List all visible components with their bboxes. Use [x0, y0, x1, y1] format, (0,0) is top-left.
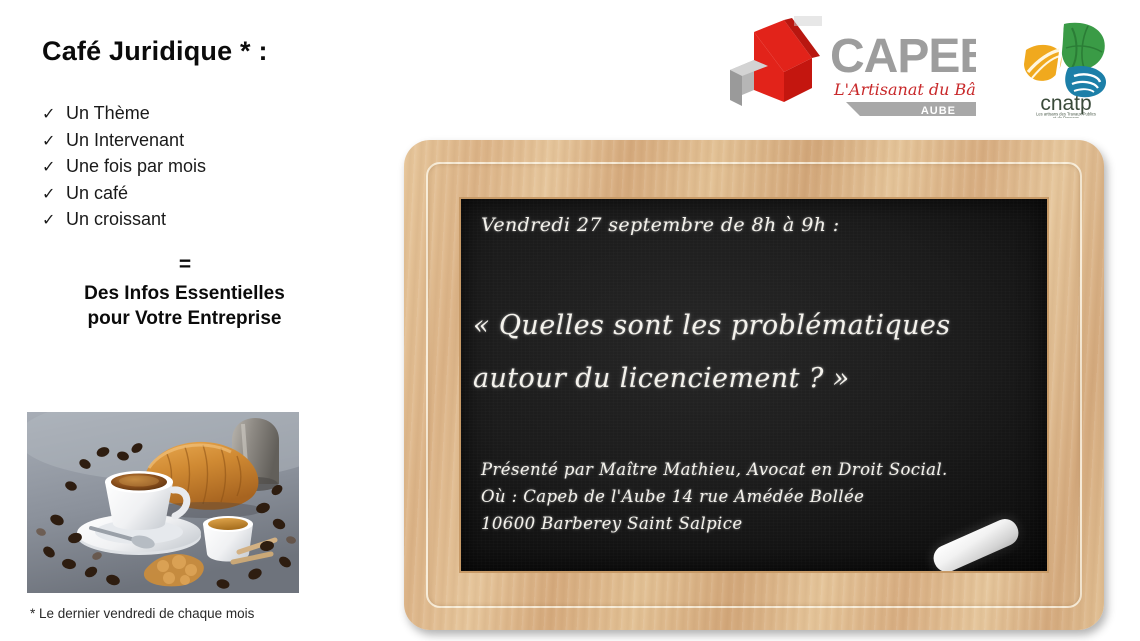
list-item-label: Un Thème [66, 101, 150, 127]
feature-list: ✓ Un Thème ✓ Un Intervenant ✓ Une fois p… [42, 101, 342, 234]
list-item: ✓ Un Intervenant [42, 128, 342, 155]
check-icon: ✓ [42, 102, 66, 128]
left-info-panel: Café Juridique * : ✓ Un Thème ✓ Un Inter… [0, 0, 380, 641]
equals-sign: = [42, 253, 327, 277]
page-title: Café Juridique * : [42, 36, 268, 67]
capeb-logo: CAPEB L'Artisanat du Bâtiment AUBE [728, 16, 976, 120]
check-icon: ✓ [42, 129, 66, 155]
coffee-croissant-photo [27, 412, 299, 593]
tagline-line-1: Des Infos Essentielles [42, 281, 327, 306]
cnatp-logo: cnatp Les artisans des Travaux Publics e… [1016, 18, 1116, 118]
list-item: ✓ Un café [42, 181, 342, 208]
tagline-line-2: pour Votre Entreprise [42, 306, 327, 331]
list-item-label: Un Intervenant [66, 128, 184, 154]
list-item-label: Un croissant [66, 207, 166, 233]
check-icon: ✓ [42, 208, 66, 234]
chalkboard-surface: Vendredi 27 septembre de 8h à 9h : « Que… [461, 199, 1047, 571]
svg-text:CAPEB: CAPEB [830, 30, 976, 83]
list-item: ✓ Une fois par mois [42, 154, 342, 181]
check-icon: ✓ [42, 155, 66, 181]
event-location: Où : Capeb de l'Aube 14 rue Amédée Bollé… [481, 483, 951, 510]
event-presenter: Présenté par Maître Mathieu, Avocat en D… [481, 456, 951, 483]
chalkboard: Vendredi 27 septembre de 8h à 9h : « Que… [404, 140, 1104, 630]
check-icon: ✓ [42, 182, 66, 208]
tagline-block: Des Infos Essentielles pour Votre Entrep… [42, 281, 327, 331]
list-item-label: Une fois par mois [66, 154, 206, 180]
event-postal-city: 10600 Barberey Saint Salpice [481, 510, 951, 537]
svg-text:et du Paysage: et du Paysage [1053, 116, 1080, 119]
list-item: ✓ Un croissant [42, 207, 342, 234]
svg-text:AUBE: AUBE [921, 105, 956, 117]
list-item: ✓ Un Thème [42, 101, 342, 128]
event-details: Présenté par Maître Mathieu, Avocat en D… [481, 456, 951, 537]
event-date-time: Vendredi 27 septembre de 8h à 9h : [481, 214, 840, 236]
footnote: * Le dernier vendredi de chaque mois [30, 606, 254, 621]
list-item-label: Un café [66, 181, 128, 207]
event-question: « Quelles sont les problématiques autour… [473, 299, 1013, 405]
svg-text:L'Artisanat du Bâtiment: L'Artisanat du Bâtiment [833, 80, 976, 99]
